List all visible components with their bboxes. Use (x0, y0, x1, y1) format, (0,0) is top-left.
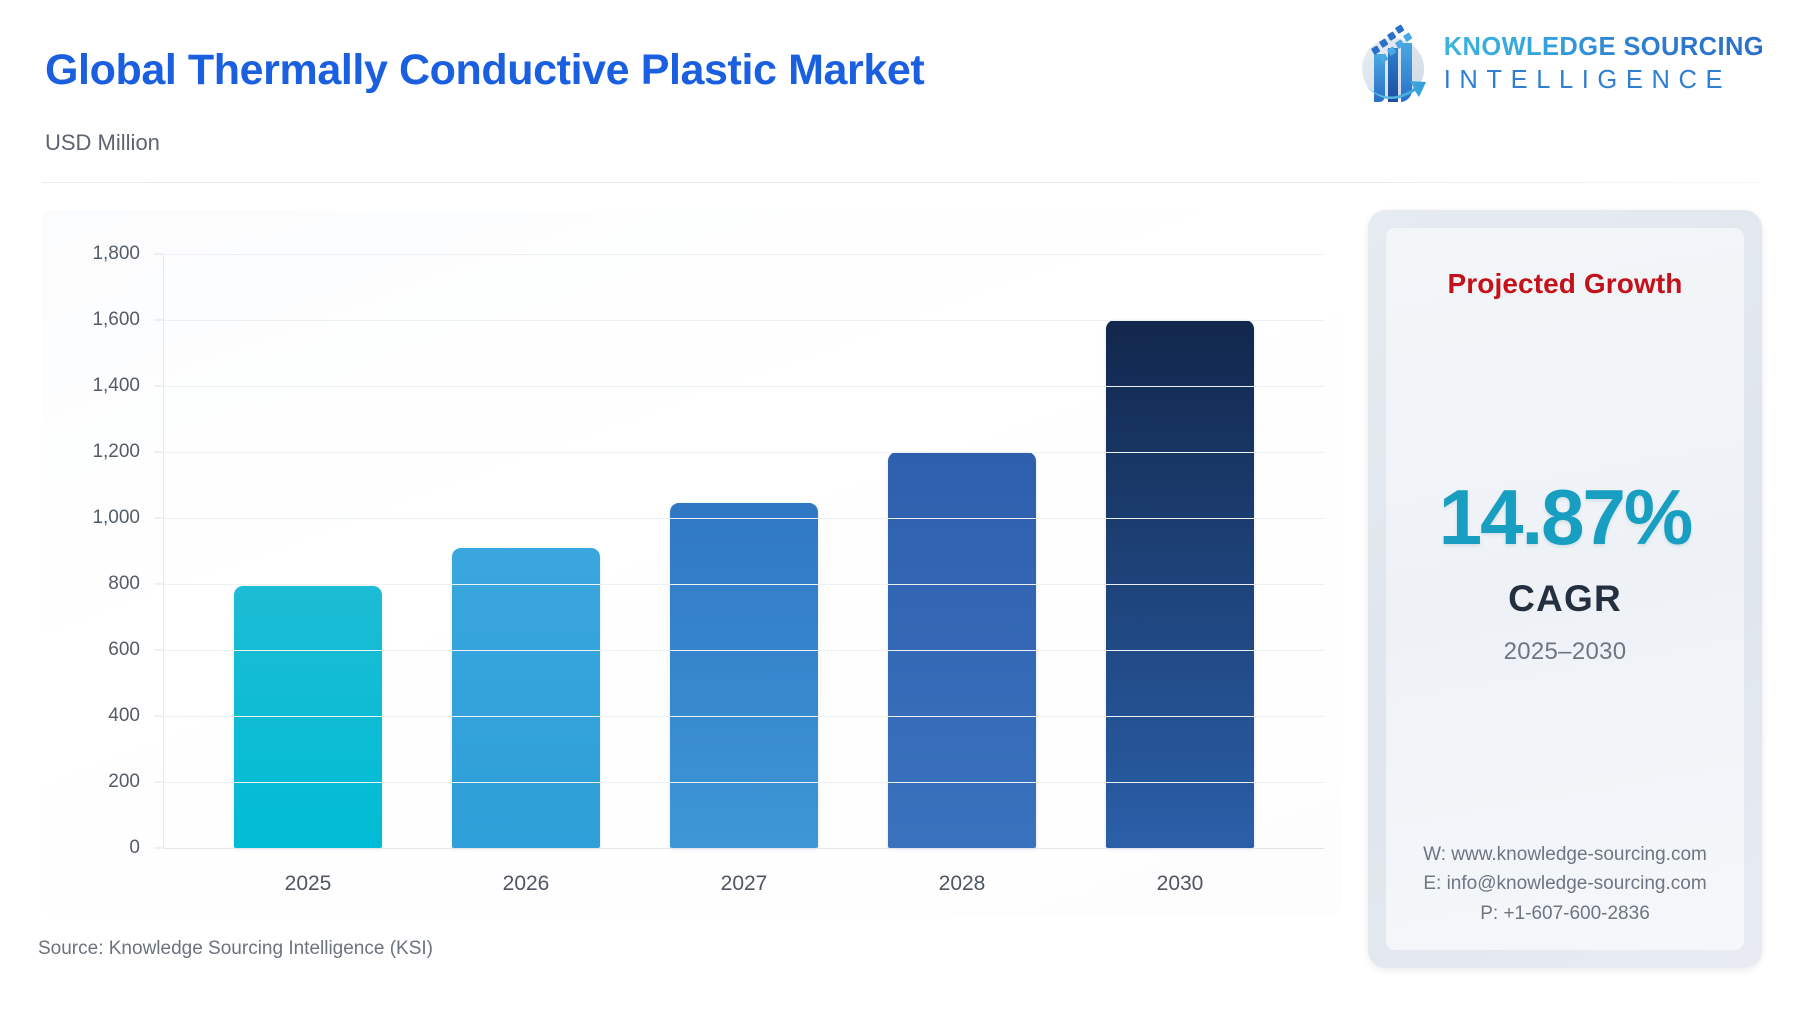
x-axis-tick-label: 2030 (1106, 872, 1254, 896)
y-axis-tick-label: 1,200 (92, 441, 140, 463)
y-axis-tick-label: 200 (108, 771, 140, 793)
cagr-value: 14.87% (1439, 478, 1692, 556)
grid-line (164, 320, 1324, 321)
y-axis-tick-label: 1,800 (92, 243, 140, 265)
grid-line (164, 386, 1324, 387)
y-axis-tick-label: 600 (108, 639, 140, 661)
y-axis-tick-mark (154, 518, 163, 519)
growth-arrow-globe-icon (1352, 24, 1430, 104)
contact-block: W: www.knowledge-sourcing.com E: info@kn… (1386, 840, 1744, 928)
page-title: Global Thermally Conductive Plastic Mark… (45, 46, 924, 95)
contact-email: E: info@knowledge-sourcing.com (1386, 869, 1744, 898)
y-axis-tick-label: 1,400 (92, 375, 140, 397)
grid-line (164, 254, 1324, 255)
bar-series: 20252026202720282030 (164, 210, 1324, 915)
contact-website: W: www.knowledge-sourcing.com (1386, 840, 1744, 869)
y-axis-tick-label: 1,000 (92, 507, 140, 529)
projected-growth-inner: Projected Growth 14.87% CAGR 2025–2030 W… (1386, 228, 1744, 950)
y-axis-tick-mark (154, 716, 163, 717)
grid-line (164, 518, 1324, 519)
chart-card: 02004006008001,0001,2001,4001,6001,800 2… (42, 210, 1342, 915)
brand-name-primary: KNOWLEDGE SOURCING (1444, 35, 1764, 61)
grid-line (164, 782, 1324, 783)
y-axis-tick-mark (154, 650, 163, 651)
brand-name-secondary: INTELLIGENCE (1444, 68, 1764, 94)
y-axis-tick-mark (154, 584, 163, 585)
grid-line (164, 716, 1324, 717)
y-axis-tick-mark (154, 848, 163, 849)
page-header: Global Thermally Conductive Plastic Mark… (0, 0, 1800, 190)
x-axis-tick-label: 2027 (670, 872, 818, 896)
bar-2026[interactable] (452, 548, 600, 848)
cagr-label: CAGR (1508, 578, 1622, 620)
y-axis-tick-mark (154, 452, 163, 453)
x-axis-tick-label: 2028 (888, 872, 1036, 896)
grid-line (164, 650, 1324, 651)
projected-growth-card: Projected Growth 14.87% CAGR 2025–2030 W… (1368, 210, 1762, 968)
bar-2027[interactable] (670, 503, 818, 848)
y-axis-tick-label: 800 (108, 573, 140, 595)
panel-heading: Projected Growth (1448, 268, 1683, 300)
grid-line (164, 584, 1324, 585)
y-axis-tick-mark (154, 782, 163, 783)
x-axis-tick-label: 2026 (452, 872, 600, 896)
cagr-period: 2025–2030 (1504, 638, 1627, 666)
bar-column[interactable]: 2026 (452, 548, 600, 848)
grid-line (164, 452, 1324, 453)
contact-phone: P: +1-607-600-2836 (1386, 899, 1744, 928)
units-subtitle: USD Million (45, 130, 160, 156)
y-axis-tick-label: 0 (129, 837, 140, 859)
y-axis-tick-label: 1,600 (92, 309, 140, 331)
chart-page: Global Thermally Conductive Plastic Mark… (0, 0, 1800, 1012)
y-axis-tick-mark (154, 320, 163, 321)
x-axis-tick-label: 2025 (234, 872, 382, 896)
brand-logo: KNOWLEDGE SOURCING INTELLIGENCE (1352, 24, 1764, 104)
y-axis-tick-mark (154, 254, 163, 255)
header-divider (42, 182, 1758, 183)
source-note: Source: Knowledge Sourcing Intelligence … (38, 938, 433, 960)
y-axis: 02004006008001,0001,2001,4001,6001,800 (42, 210, 154, 915)
y-axis-tick-mark (154, 386, 163, 387)
grid-line (164, 848, 1324, 849)
bar-column[interactable]: 2027 (670, 503, 818, 848)
y-axis-tick-label: 400 (108, 705, 140, 727)
brand-logo-text: KNOWLEDGE SOURCING INTELLIGENCE (1444, 35, 1764, 94)
bar-chart-plot: 02004006008001,0001,2001,4001,6001,800 2… (42, 210, 1342, 915)
